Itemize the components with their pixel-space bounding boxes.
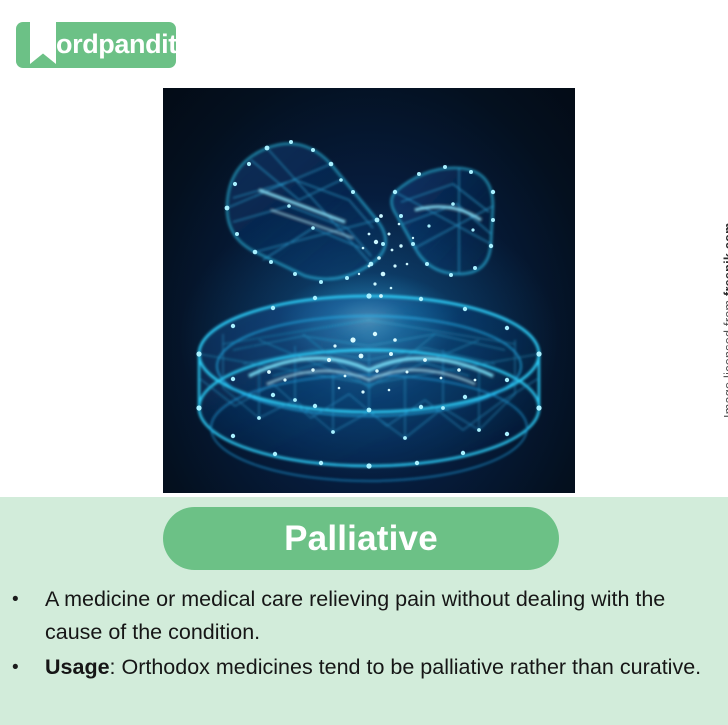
definition-list: • A medicine or medical care relieving p… [0, 583, 728, 684]
bullet-glyph: • [8, 651, 45, 684]
image-credit: Image licensed from freepik.com [704, 168, 728, 418]
word-title-pill: Palliative [163, 507, 559, 570]
definition-band: Palliative • A medicine or medical care … [0, 497, 728, 725]
hero-image [163, 88, 575, 493]
site-logo[interactable]: ordpandit [16, 22, 176, 68]
bullet-glyph: • [8, 583, 45, 616]
wireframe-illustration [163, 88, 575, 493]
list-item: • A medicine or medical care relieving p… [0, 583, 728, 649]
definition-text: A medicine or medical care relieving pai… [45, 583, 708, 649]
credit-source: freepik.com [722, 223, 728, 296]
usage-sentence: : Orthodox medicines tend to be palliati… [110, 655, 702, 679]
page-title: Palliative [284, 519, 438, 559]
usage-label: Usage [45, 655, 110, 679]
logo-text: ordpandit [56, 29, 177, 60]
credit-prefix: Image licensed from [722, 296, 728, 418]
usage-text: Usage: Orthodox medicines tend to be pal… [45, 651, 708, 684]
list-item: • Usage: Orthodox medicines tend to be p… [0, 651, 728, 684]
